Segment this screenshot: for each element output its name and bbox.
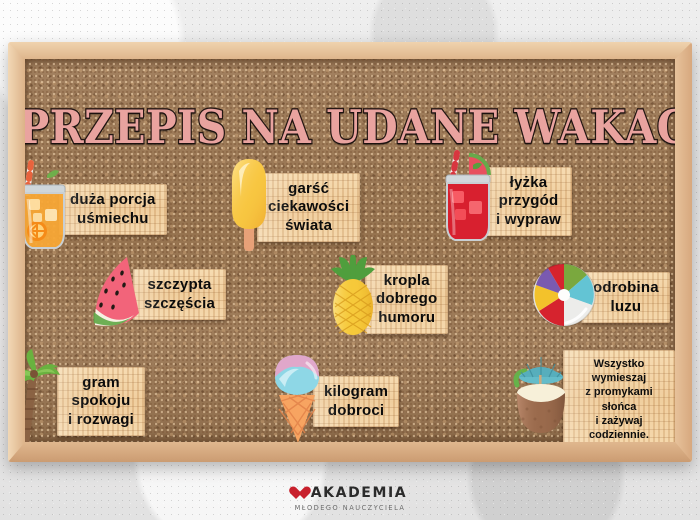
item-szczypta-szczescia[interactable]: szczypta szczęścia xyxy=(87,253,226,336)
label-line: szczypta xyxy=(147,276,211,293)
item-duza-porcja-usmiechu[interactable]: duża porcja uśmiechu xyxy=(25,159,167,260)
logo-row: AKADEMIA xyxy=(293,486,407,500)
frame-edge-left xyxy=(8,42,25,462)
footer-logo: AKADEMIA MŁODEGO NAUCZYCIELA xyxy=(0,486,700,512)
label-line: codziennie. xyxy=(589,429,649,441)
label-line: dobroci xyxy=(328,402,384,419)
frame-edge-top xyxy=(8,42,692,59)
item-garsc-ciekawosci-swiata[interactable]: garść ciekawości świata xyxy=(225,153,360,262)
watermelon-slice-icon xyxy=(87,253,149,336)
label-line: świata xyxy=(285,217,332,234)
item-gram-spokoju-i-rozwagi[interactable]: gram spokoju i rozwagi xyxy=(25,349,145,442)
cork-board-frame: PRZEPIS NA UDANE WAKACJE xyxy=(8,42,692,462)
label-line: humoru xyxy=(378,309,435,326)
ice-cream-cone-icon xyxy=(265,351,329,442)
lemonade-jar-icon xyxy=(25,159,75,260)
label-line: uśmiechu xyxy=(77,210,149,227)
coconut-drink-icon xyxy=(503,347,579,442)
label-line: odrobina xyxy=(593,279,659,296)
item-lyzka-przygod-i-wypraw[interactable]: łyżka przygód i wypraw xyxy=(435,147,572,256)
pineapple-icon xyxy=(325,255,381,344)
label-line: Wszystko xyxy=(594,358,645,370)
label-duza-porcja-usmiechu: duża porcja uśmiechu xyxy=(59,184,167,235)
label-line: spokoju xyxy=(72,392,131,409)
label-line: ciekawości xyxy=(268,198,349,215)
label-line: wymieszaj xyxy=(592,372,646,384)
watermelon-drink-icon xyxy=(435,147,501,256)
heart-icon xyxy=(293,486,307,499)
label-line: kilogram xyxy=(324,383,388,400)
label-line: garść xyxy=(288,180,329,197)
label-instrukcja: Wszystko wymieszaj z promykami słońca i … xyxy=(563,350,675,442)
label-line: kropla xyxy=(384,272,430,289)
label-line: z promykami słońca xyxy=(585,386,652,412)
item-kilogram-dobroci[interactable]: kilogram dobroci xyxy=(265,351,399,442)
beach-ball-icon xyxy=(530,261,598,334)
label-line: gram xyxy=(82,374,119,391)
page-title: PRZEPIS NA UDANE WAKACJE xyxy=(25,101,675,155)
item-kropla-dobrego-humoru[interactable]: kropla dobrego humoru xyxy=(325,255,448,344)
label-line: i zażywaj xyxy=(595,415,642,427)
label-line: przygód xyxy=(499,192,559,209)
popsicle-icon xyxy=(225,153,273,262)
label-line: i rozwagi xyxy=(68,411,134,428)
label-line: szczęścia xyxy=(144,295,215,312)
cork-surface: PRZEPIS NA UDANE WAKACJE xyxy=(25,59,675,442)
label-line: luzu xyxy=(610,298,641,315)
logo-tagline: MŁODEGO NAUCZYCIELA xyxy=(0,505,700,512)
item-odrobina-luzu[interactable]: odrobina luzu xyxy=(530,261,670,334)
label-line: duża porcja xyxy=(70,191,156,208)
item-instrukcja[interactable]: Wszystko wymieszaj z promykami słońca i … xyxy=(503,347,675,442)
frame-edge-right xyxy=(675,42,692,462)
palm-tree-icon xyxy=(25,349,73,442)
frame-edge-bottom xyxy=(8,442,692,462)
label-line: łyżka xyxy=(510,174,548,191)
label-line: dobrego xyxy=(376,290,437,307)
label-line: i wypraw xyxy=(496,211,561,228)
logo-brand: AKADEMIA xyxy=(311,486,407,500)
